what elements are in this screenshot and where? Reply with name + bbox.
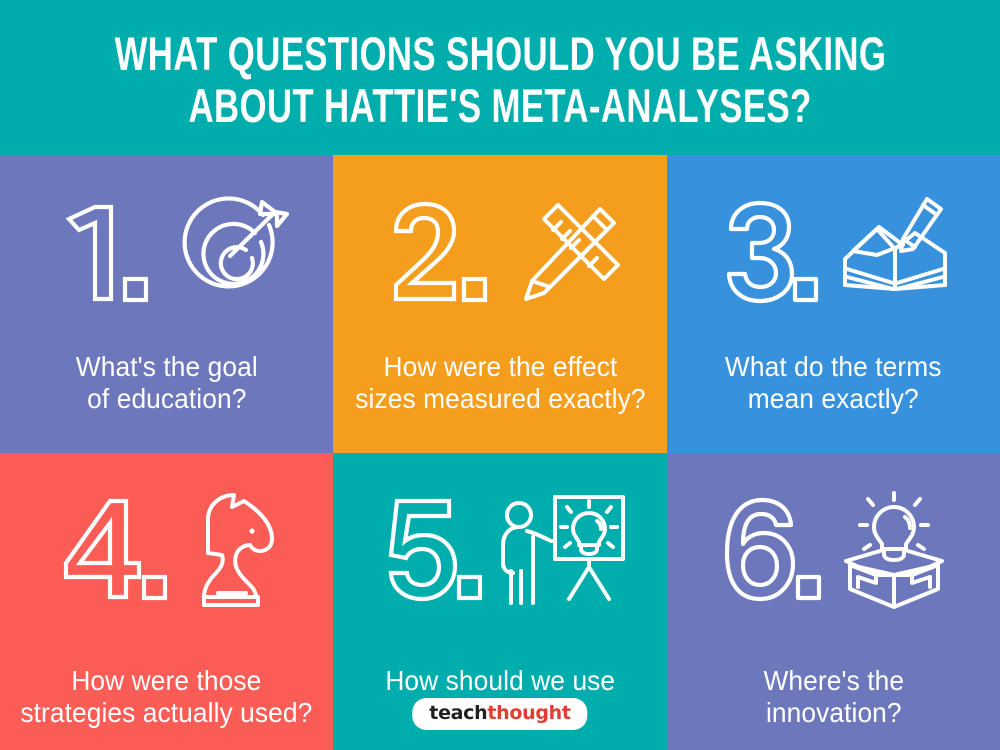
question-card-3[interactable]: What do the terms mean exactly? [667, 155, 1000, 453]
target-arrow-icon [169, 193, 289, 311]
card-1-icon-row [45, 177, 289, 327]
chess-knight-icon [174, 491, 284, 609]
infographic-poster: What questions should you be asking abou… [0, 0, 1000, 750]
numeral-1-icon [45, 193, 167, 311]
numeral-3-icon [711, 193, 829, 311]
page-title-line-2: about Hattie's meta-analyses? [188, 80, 811, 132]
question-card-1[interactable]: What's the goal of education? [0, 155, 333, 453]
card-2-icon-row [376, 177, 624, 327]
card-6-caption: Where's the innovation? [763, 665, 904, 729]
question-card-5[interactable]: How should we use these results? teachth… [333, 453, 667, 750]
numeral-6-icon [710, 491, 828, 609]
numeral-4-icon [50, 491, 172, 609]
pencil-ruler-icon [500, 193, 624, 311]
card-5-icon-row [373, 475, 627, 625]
header-banner: What questions should you be asking abou… [0, 0, 1000, 155]
questions-grid: What's the goal of education? [0, 155, 1000, 750]
logo-part-thought: thought [487, 702, 570, 724]
card-4-icon-row [50, 475, 284, 625]
lightbulb-open-box-icon [830, 491, 958, 609]
teachthought-logo[interactable]: teachthought [412, 698, 587, 730]
card-2-caption: How were the effect sizes measured exact… [355, 351, 645, 415]
card-3-caption: What do the terms mean exactly? [725, 351, 942, 415]
question-card-6[interactable]: Where's the innovation? [667, 453, 1000, 750]
question-card-4[interactable]: How were those strategies actually used? [0, 453, 333, 750]
numeral-2-icon [376, 193, 498, 311]
numeral-5-icon [373, 491, 491, 609]
card-6-icon-row [710, 475, 958, 625]
open-book-pencil-icon [831, 193, 957, 311]
card-3-icon-row [711, 177, 957, 327]
page-title-line-1: What questions should you be asking [114, 28, 886, 80]
question-card-2[interactable]: How were the effect sizes measured exact… [333, 155, 667, 453]
card-4-caption: How were those strategies actually used? [20, 665, 312, 729]
presenter-easel-lightbulb-icon [493, 491, 627, 609]
logo-part-teach: teach [429, 702, 487, 724]
card-1-caption: What's the goal of education? [75, 351, 257, 415]
